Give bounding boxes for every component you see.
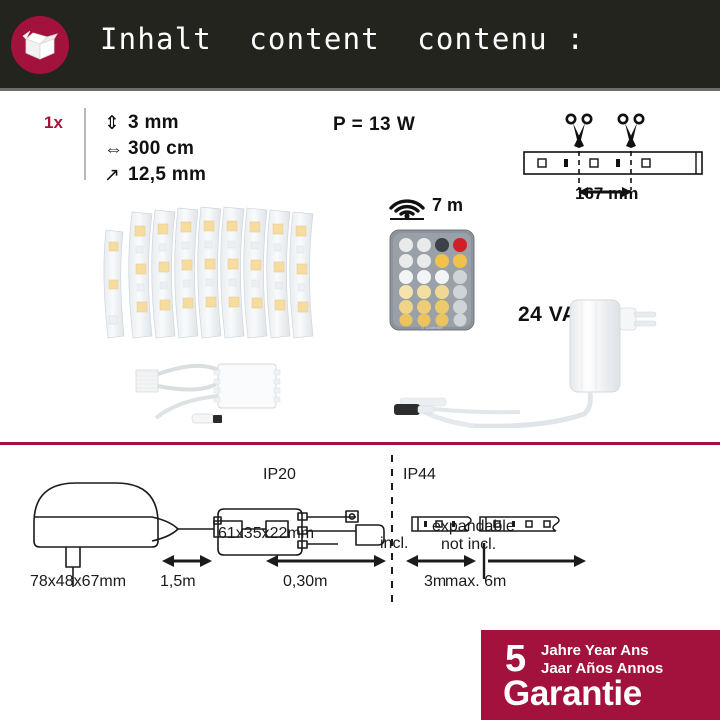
strip-ip-label: IP44	[403, 466, 436, 484]
open-box-glyph	[21, 26, 59, 64]
page-header: Inhalt content contenu :	[0, 0, 720, 88]
rf-range-group: 7 m	[385, 186, 463, 220]
quantity-label: 1x	[44, 113, 63, 133]
dimension-row-width: ↗ 12,5 mm	[104, 162, 206, 188]
controller-image	[118, 344, 298, 428]
controller-ip-label: IP20	[263, 466, 296, 484]
dimension-list: ⇕ 3 mm ⇔ 300 cm ↗ 12,5 mm	[104, 110, 206, 188]
warranty-badge: 5 Jahre Year Ans Jaar Años Annos Garanti…	[481, 630, 720, 720]
dimension-row-length: ⇔ 300 cm	[104, 136, 206, 162]
arrow-left-right-icon: ⇔	[104, 140, 128, 159]
qty-divider	[84, 108, 86, 180]
strip-expandable-note-1: expandable	[432, 518, 515, 536]
strip-included-note: incl.	[380, 535, 408, 553]
rf-range-label: 7 m	[432, 195, 463, 216]
psu-cable-length-label: 1,5m	[160, 573, 196, 591]
warranty-line-1: Jahre Year Ans	[541, 642, 649, 659]
wireless-signal-icon	[385, 186, 429, 220]
strip-expandable-length: max. 6m	[445, 573, 506, 591]
dimension-value-width: 12,5 mm	[128, 164, 206, 186]
warranty-years: 5	[505, 640, 526, 678]
controller-size-label: 61x35x22mm	[218, 525, 314, 543]
barrel-plug-image	[392, 398, 522, 422]
dimension-value-length: 300 cm	[128, 138, 194, 160]
page-title: Inhalt content contenu :	[100, 22, 585, 56]
controller-cable-length-label: 0,30m	[283, 573, 327, 591]
strip-expandable-note-2: not incl.	[441, 536, 496, 554]
psu-size-label: 78x48x67mm	[30, 573, 126, 591]
arrow-up-down-icon: ⇕	[104, 114, 128, 133]
led-strip-image	[92, 190, 332, 350]
cut-interval-label: 167 mm	[575, 184, 638, 204]
power-rating-label: P = 13 W	[333, 114, 415, 136]
dimension-value-height: 3 mm	[128, 112, 179, 134]
header-rule	[0, 88, 720, 91]
warranty-title: Garantie	[503, 676, 642, 711]
dimension-row-height: ⇕ 3 mm	[104, 110, 206, 136]
arrow-diagonal-icon: ↗	[104, 166, 128, 185]
section-divider	[0, 442, 720, 445]
strip-included-length: 3m	[424, 573, 446, 591]
open-box-icon	[11, 16, 69, 74]
